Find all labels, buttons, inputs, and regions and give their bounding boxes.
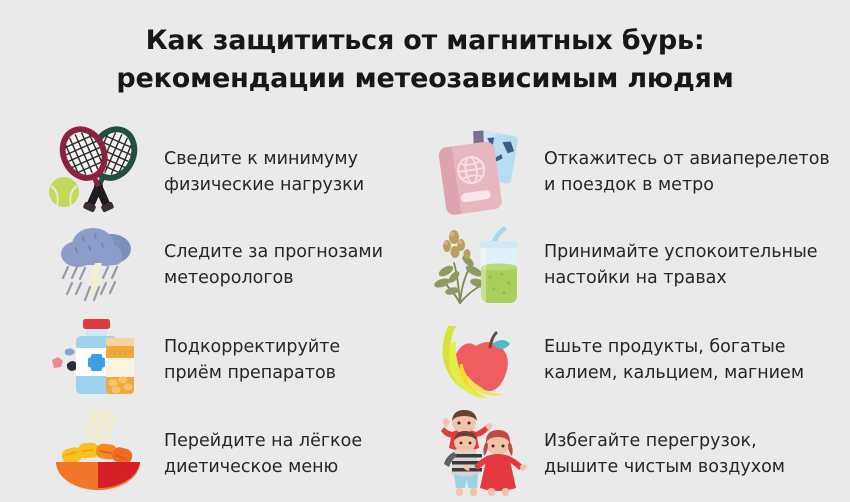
- tip-item-reduce-exercise: Сведите к минимуму физические нагрузки: [48, 126, 428, 218]
- tip-item-avoid-overload: Избегайте перегрузок, дышите чистым возд…: [430, 408, 850, 500]
- tip-text: Перейдите на лёгкое диетическое меню: [148, 428, 428, 480]
- infographic-root: Как защититься от магнитных бурь: рекоме…: [0, 0, 850, 502]
- tip-item-avoid-flights: Откажитесь от авиаперелетов и поездок в …: [430, 126, 850, 218]
- tip-text: Принимайте успокоительные настойки на тр…: [530, 239, 850, 291]
- tip-text: Сведите к минимуму физические нагрузки: [148, 146, 428, 198]
- tip-item-watch-forecast: Следите за прогнозами метеорологов: [48, 219, 428, 311]
- fruits-banana-apple-icon: [430, 316, 530, 404]
- tip-item-adjust-medication: Подкорректируйте приём препаратов: [48, 314, 428, 406]
- tip-text: Следите за прогнозами метеорологов: [148, 239, 428, 291]
- storm-cloud-rain-icon: [48, 221, 148, 309]
- page-title-line-1: Как защититься от магнитных бурь:: [0, 22, 850, 60]
- passport-tickets-icon: [430, 128, 530, 216]
- hot-food-bowl-icon: [48, 410, 148, 498]
- tip-item-potassium-foods: Ешьте продукты, богатые калием, кальцием…: [430, 314, 850, 406]
- herbal-drink-icon: [430, 221, 530, 309]
- tip-text: Подкорректируйте приём препаратов: [148, 334, 428, 386]
- tip-text: Откажитесь от авиаперелетов и поездок в …: [530, 146, 850, 198]
- page-title-line-2: рекомендации метеозависимым людям: [0, 60, 850, 98]
- tip-text: Избегайте перегрузок, дышите чистым возд…: [530, 428, 850, 480]
- tips-grid: Сведите к минимуму физические нагрузки: [0, 118, 850, 502]
- medicine-bottles-icon: [48, 316, 148, 404]
- tip-text: Ешьте продукты, богатые калием, кальцием…: [530, 334, 850, 386]
- tip-item-light-diet: Перейдите на лёгкое диетическое меню: [48, 408, 428, 500]
- tennis-rackets-icon: [48, 128, 148, 216]
- children-playing-icon: [430, 410, 530, 498]
- page-title: Как защититься от магнитных бурь: рекоме…: [0, 22, 850, 98]
- tip-item-herbal-tinctures: Принимайте успокоительные настойки на тр…: [430, 219, 850, 311]
